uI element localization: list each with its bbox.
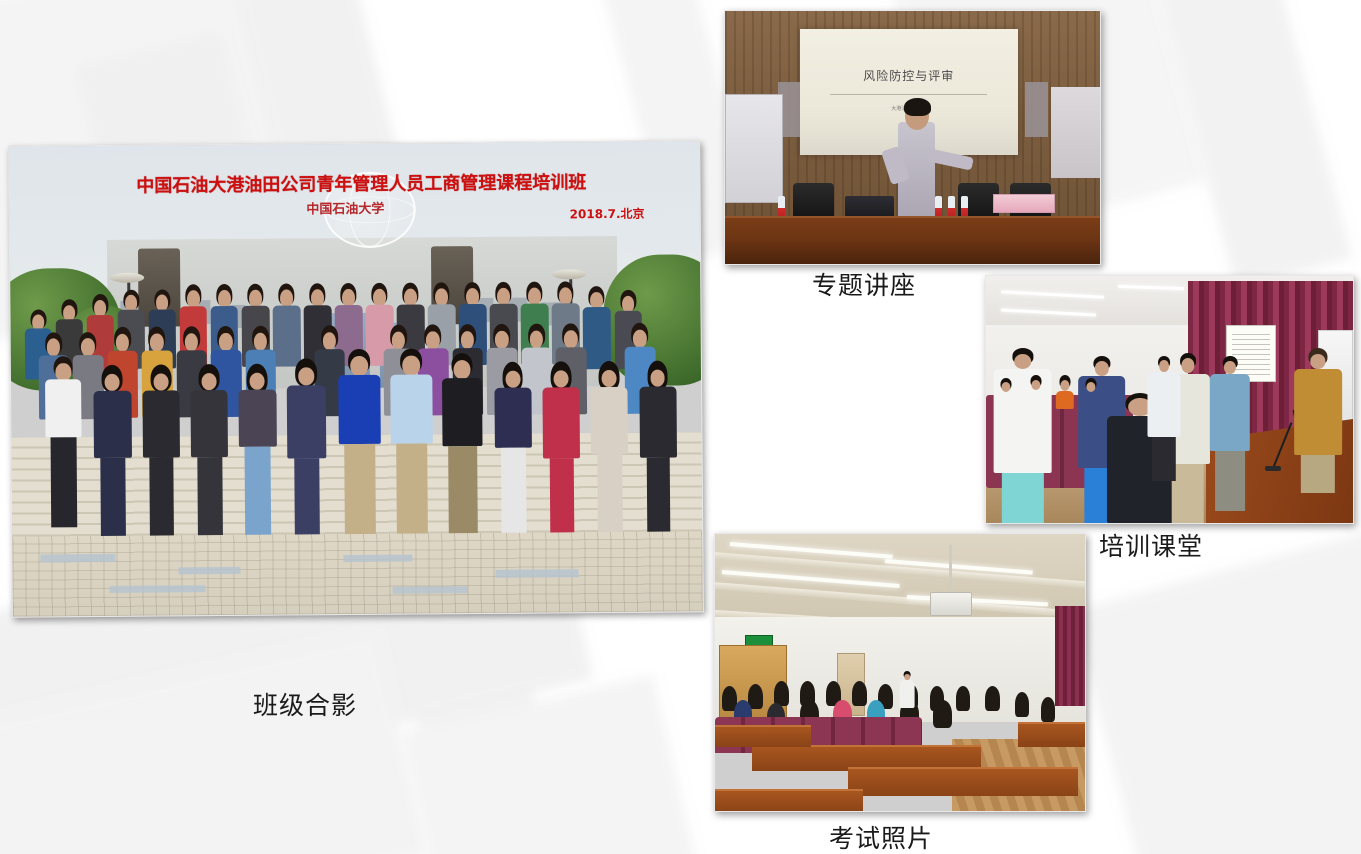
- person: [94, 367, 133, 536]
- whiteboard-right: [1051, 87, 1100, 178]
- caption-group-photo: 班级合影: [253, 686, 357, 722]
- water-bottle: [778, 196, 785, 218]
- watermark-shape: [1128, 0, 1353, 288]
- projected-slide-title: 风险防控与评审: [800, 67, 1018, 84]
- name-placard: [993, 194, 1055, 214]
- student-head: [933, 700, 952, 728]
- pavement-tile: [496, 569, 579, 578]
- pavement-tile: [40, 554, 116, 563]
- whiteboard-left: [725, 94, 783, 202]
- person: [442, 355, 483, 534]
- window-curtain: [1055, 606, 1085, 706]
- student-desk: [715, 725, 811, 746]
- watermark-shape: [400, 675, 721, 854]
- person: [639, 362, 678, 531]
- person: [287, 360, 327, 534]
- university-logo-text: 中国石油大学: [306, 198, 384, 218]
- person: [190, 366, 229, 535]
- speaker-hair: [904, 98, 931, 116]
- student-head: [1041, 697, 1056, 722]
- exam-photo-scene: [715, 534, 1085, 811]
- pavement-tile: [109, 585, 206, 593]
- group-photo-scene: 中国石油大港油田公司青年管理人员工商管理课程培训班 2018.7.北京 中国石油…: [9, 141, 703, 616]
- person: [997, 380, 1015, 410]
- person: [339, 351, 382, 535]
- lecture-photo[interactable]: 风险防控与评审 大港油田研修班: [724, 10, 1101, 265]
- person: [1147, 358, 1180, 482]
- student-desk: [1018, 722, 1086, 746]
- student-head: [1015, 692, 1030, 717]
- watermark-shape: [1071, 523, 1361, 854]
- plaza-pavement: [12, 531, 703, 616]
- person: [390, 350, 433, 534]
- podium-desk-front: [725, 241, 1100, 264]
- caption-lecture-photo: 专题讲座: [812, 266, 916, 302]
- presentation-slide: 中国石油大港油田公司青年管理人员工商管理课程培训班 2018.7.北京 中国石油…: [0, 0, 1361, 854]
- person: [1026, 377, 1044, 407]
- person: [142, 366, 181, 535]
- laptop: [845, 196, 894, 219]
- caption-training-photo: 培训课堂: [1099, 527, 1203, 563]
- lamp-head: [110, 273, 144, 283]
- slide-divider: [830, 94, 987, 95]
- banner-text: 中国石油大港油田公司青年管理人员工商管理课程培训班: [65, 167, 659, 198]
- student-desk: [715, 789, 863, 812]
- microphone-base: [1265, 466, 1281, 471]
- person: [239, 366, 278, 535]
- projector-mount: [949, 545, 952, 595]
- water-bottle: [961, 196, 968, 218]
- student-head: [985, 686, 1000, 711]
- student-head: [956, 686, 971, 711]
- water-bottle: [948, 196, 955, 218]
- caption-exam-photo: 考试照片: [829, 819, 933, 854]
- student-head: [852, 681, 867, 706]
- person: [1210, 358, 1250, 511]
- group-photo[interactable]: 中国石油大港油田公司青年管理人员工商管理课程培训班 2018.7.北京 中国石油…: [8, 140, 704, 617]
- watermark-shape: [0, 630, 429, 854]
- exam-photo[interactable]: [714, 533, 1086, 812]
- pavement-tile: [344, 554, 413, 562]
- chair: [793, 183, 834, 218]
- person: [542, 363, 581, 532]
- wall-panel: [1025, 82, 1048, 138]
- person: [1294, 350, 1342, 493]
- lecture-photo-scene: 风险防控与评审 大港油田研修班: [725, 11, 1100, 264]
- student-head: [774, 681, 789, 706]
- training-photo[interactable]: [985, 275, 1354, 524]
- lamp-head: [552, 269, 586, 279]
- person: [494, 364, 533, 533]
- ceiling-projector: [930, 592, 973, 616]
- person: [45, 358, 82, 527]
- water-bottle: [935, 196, 942, 218]
- training-photo-scene: [986, 276, 1353, 523]
- pavement-tile: [392, 586, 468, 594]
- banner-date: 2018.7.北京: [570, 205, 645, 223]
- student-head: [748, 684, 763, 709]
- person: [590, 363, 629, 532]
- student-desk: [848, 767, 1077, 797]
- person: [993, 350, 1052, 523]
- person: [1081, 380, 1099, 410]
- invigilator: [900, 673, 915, 709]
- pavement-tile: [178, 567, 240, 575]
- person: [1056, 377, 1074, 409]
